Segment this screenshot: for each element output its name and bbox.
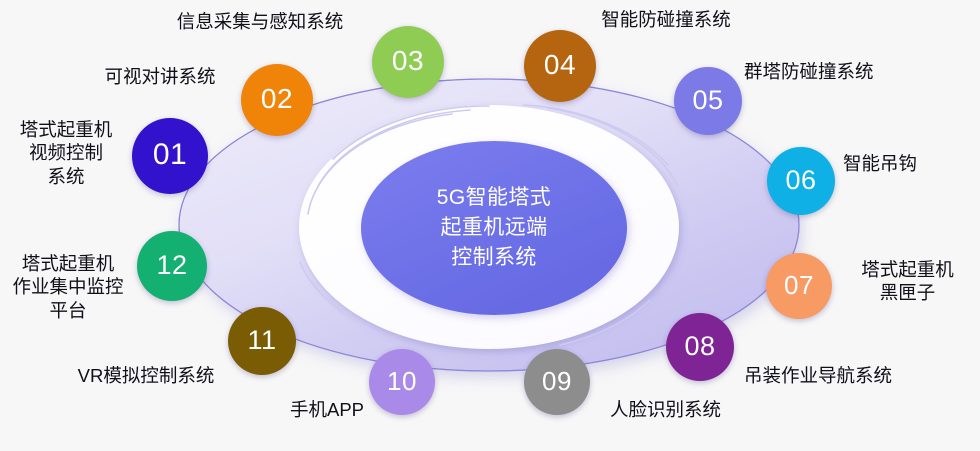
node-number-01: 01 <box>153 140 187 170</box>
node-label-10: 手机APP <box>272 398 382 421</box>
node-number-11: 11 <box>247 327 276 354</box>
node-circle-07[interactable]: 07 <box>766 253 832 319</box>
node-label-01: 塔式起重机 视频控制 系统 <box>0 118 132 188</box>
center-title: 5G智能塔式 起重机远端 控制系统 <box>364 183 624 272</box>
node-number-05: 05 <box>692 87 723 114</box>
node-number-07: 07 <box>784 272 814 298</box>
node-circle-04[interactable]: 04 <box>524 30 596 102</box>
node-label-03: 信息采集与感知系统 <box>160 10 360 33</box>
node-circle-08[interactable]: 08 <box>666 313 734 381</box>
node-circle-12[interactable]: 12 <box>137 231 207 301</box>
node-number-10: 10 <box>387 368 417 394</box>
diagram-canvas: 5G智能塔式 起重机远端 控制系统 0102030405060708091011… <box>0 0 980 451</box>
node-number-08: 08 <box>684 333 715 360</box>
node-label-09: 人脸识别系统 <box>610 398 770 421</box>
node-circle-06[interactable]: 06 <box>767 147 835 215</box>
node-circle-01[interactable]: 01 <box>132 118 208 194</box>
node-label-07: 塔式起重机 黑匣子 <box>845 258 970 305</box>
node-number-12: 12 <box>156 252 187 279</box>
node-circle-11[interactable]: 11 <box>228 307 296 375</box>
node-circle-09[interactable]: 09 <box>524 349 590 415</box>
node-label-02: 可视对讲系统 <box>80 65 240 88</box>
node-circle-05[interactable]: 05 <box>674 67 742 135</box>
node-label-04: 智能防碰撞系统 <box>576 8 756 31</box>
node-label-08: 吊装作业导航系统 <box>744 364 934 387</box>
node-number-03: 03 <box>392 47 424 75</box>
node-label-06: 智能吊钩 <box>843 152 963 175</box>
node-number-04: 04 <box>544 51 576 79</box>
node-number-06: 06 <box>785 167 816 194</box>
node-number-09: 09 <box>542 368 572 394</box>
node-label-11: VR模拟控制系统 <box>56 364 236 387</box>
node-circle-03[interactable]: 03 <box>372 26 444 98</box>
node-circle-02[interactable]: 02 <box>241 64 313 136</box>
node-label-12: 塔式起重机 作业集中监控 平台 <box>3 252 133 322</box>
node-label-05: 群塔防碰撞系统 <box>744 60 924 83</box>
node-number-02: 02 <box>261 85 293 113</box>
